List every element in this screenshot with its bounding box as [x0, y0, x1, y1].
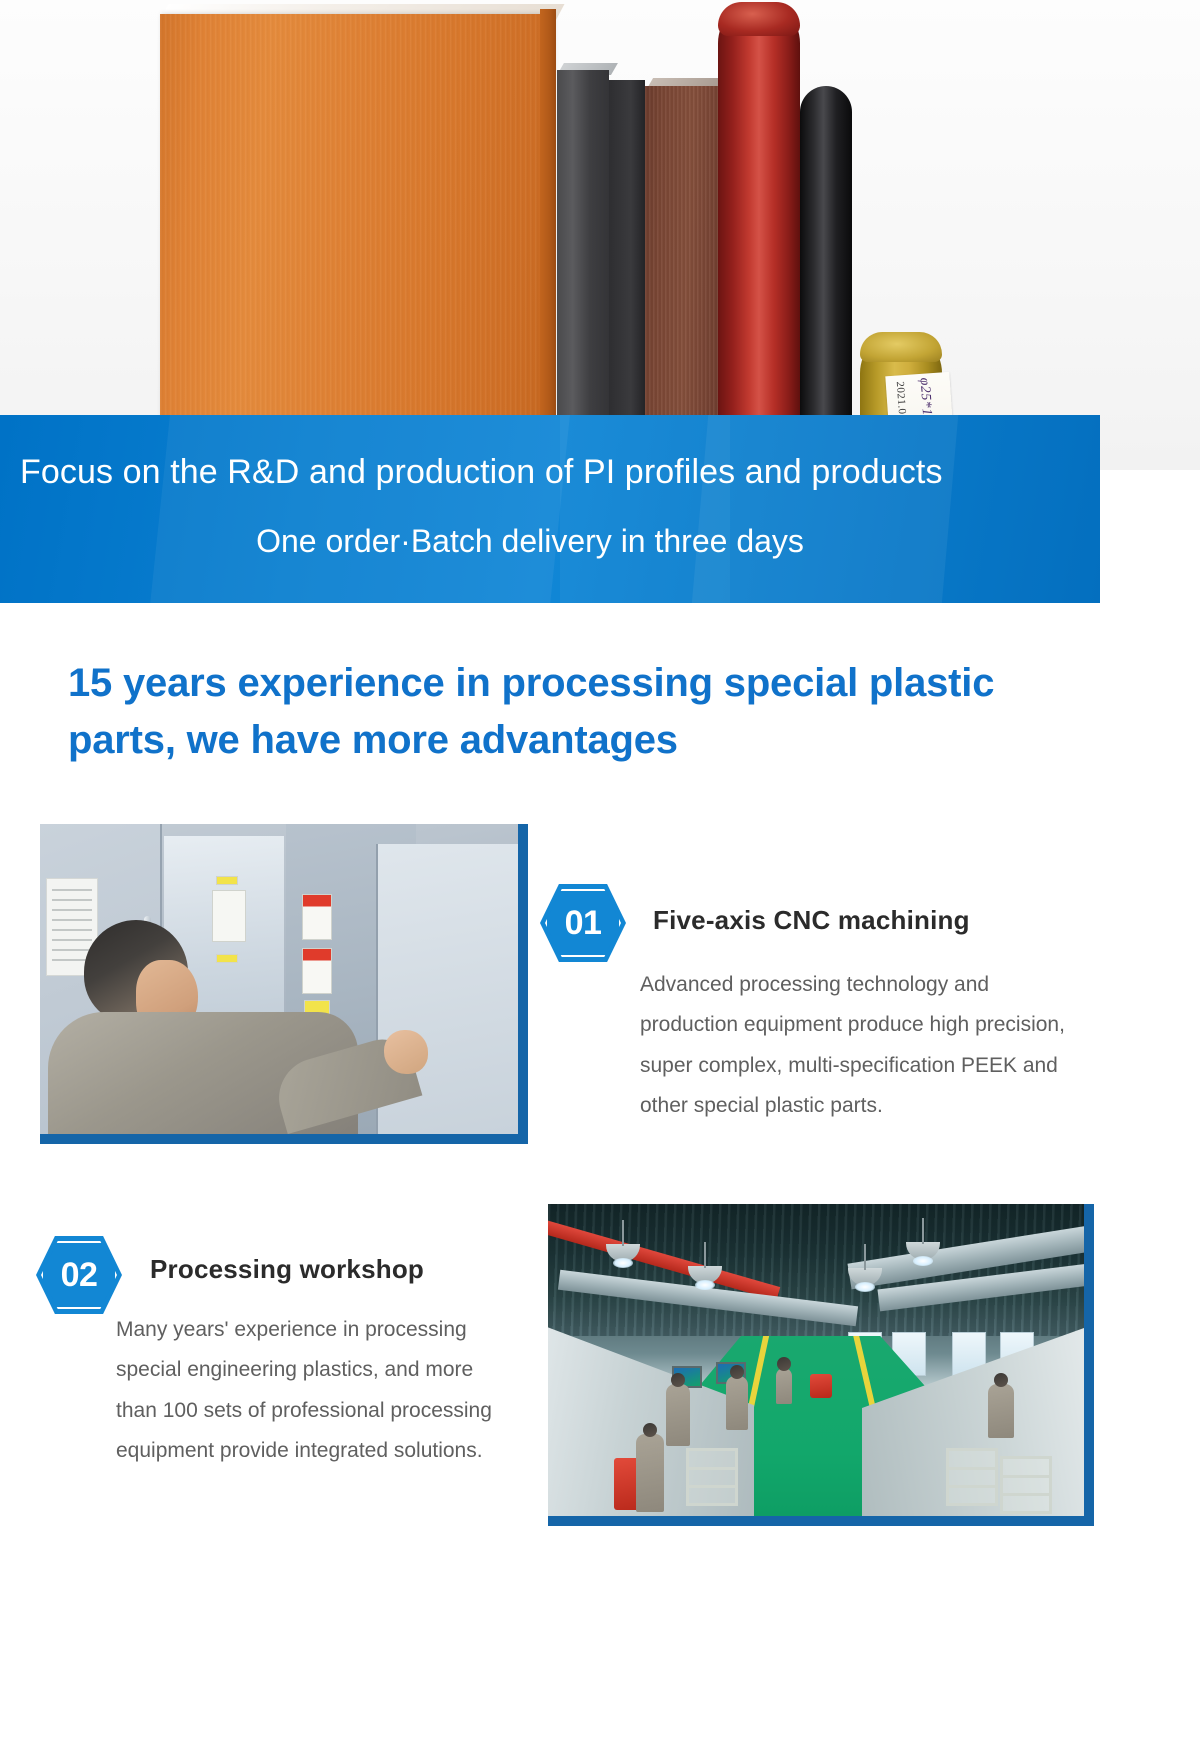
feature-01-number-badge: 01 — [540, 884, 626, 962]
feature-01-body: Advanced processing technology and produ… — [640, 965, 1070, 1126]
worker — [988, 1384, 1014, 1438]
feature-02-body: Many years' experience in processing spe… — [116, 1310, 516, 1471]
parts-rack — [1000, 1456, 1052, 1514]
banner-line-1: Focus on the R&D and production of PI pr… — [0, 453, 1076, 492]
parts-rack — [686, 1448, 738, 1506]
worker — [636, 1434, 664, 1512]
hexagon-shape: 02 — [36, 1236, 122, 1314]
hero-product-photo: 2021.03.0 φ25*1 — [0, 0, 1200, 470]
dark-grey-sheet-back — [609, 80, 645, 470]
black-rod — [800, 86, 852, 470]
red-rod-cap — [718, 2, 800, 36]
workshop-photo — [548, 1204, 1084, 1516]
tagline-banner: Focus on the R&D and production of PI pr… — [0, 415, 1100, 603]
cnc-machine-photo — [40, 824, 518, 1134]
red-tool-cart — [810, 1374, 832, 1398]
feature-01-photo-frame — [40, 824, 528, 1144]
badge-number: 01 — [565, 906, 602, 940]
cnc-warning-sticker-2 — [302, 948, 332, 994]
parts-rack — [946, 1448, 998, 1506]
dark-grey-sheet — [557, 70, 609, 470]
worker — [726, 1376, 748, 1430]
hexagon-inner: 01 — [545, 889, 621, 957]
banner-line-2: One order·Batch delivery in three days — [0, 523, 1060, 560]
red-rod — [718, 2, 800, 470]
product-landing-page: 2021.03.0 φ25*1 Focus on the R&D and pro… — [0, 0, 1200, 1756]
badge-number: 02 — [61, 1258, 98, 1292]
worker — [776, 1368, 792, 1404]
feature-01-title: Five-axis CNC machining — [653, 905, 970, 936]
orange-phenolic-sheet — [160, 14, 552, 470]
cnc-yellow-tag-1 — [216, 876, 238, 885]
worker — [666, 1384, 690, 1446]
gold-rod-cap — [860, 332, 942, 362]
banner-overlay-shape — [560, 415, 730, 603]
operator-hand — [384, 1030, 428, 1074]
orange-sheet-side-edge — [540, 9, 556, 470]
rod-label-handwriting: φ25*1 — [916, 377, 935, 416]
cnc-yellow-tag-2 — [216, 954, 238, 963]
cnc-label-block — [212, 890, 246, 942]
feature-02-title: Processing workshop — [150, 1254, 424, 1285]
section-headline: 15 years experience in processing specia… — [68, 655, 1048, 769]
hexagon-shape: 01 — [540, 884, 626, 962]
hexagon-inner: 02 — [41, 1241, 117, 1309]
feature-02-photo-frame — [548, 1204, 1094, 1526]
feature-02-number-badge: 02 — [36, 1236, 122, 1314]
cnc-warning-sticker-1 — [302, 894, 332, 940]
